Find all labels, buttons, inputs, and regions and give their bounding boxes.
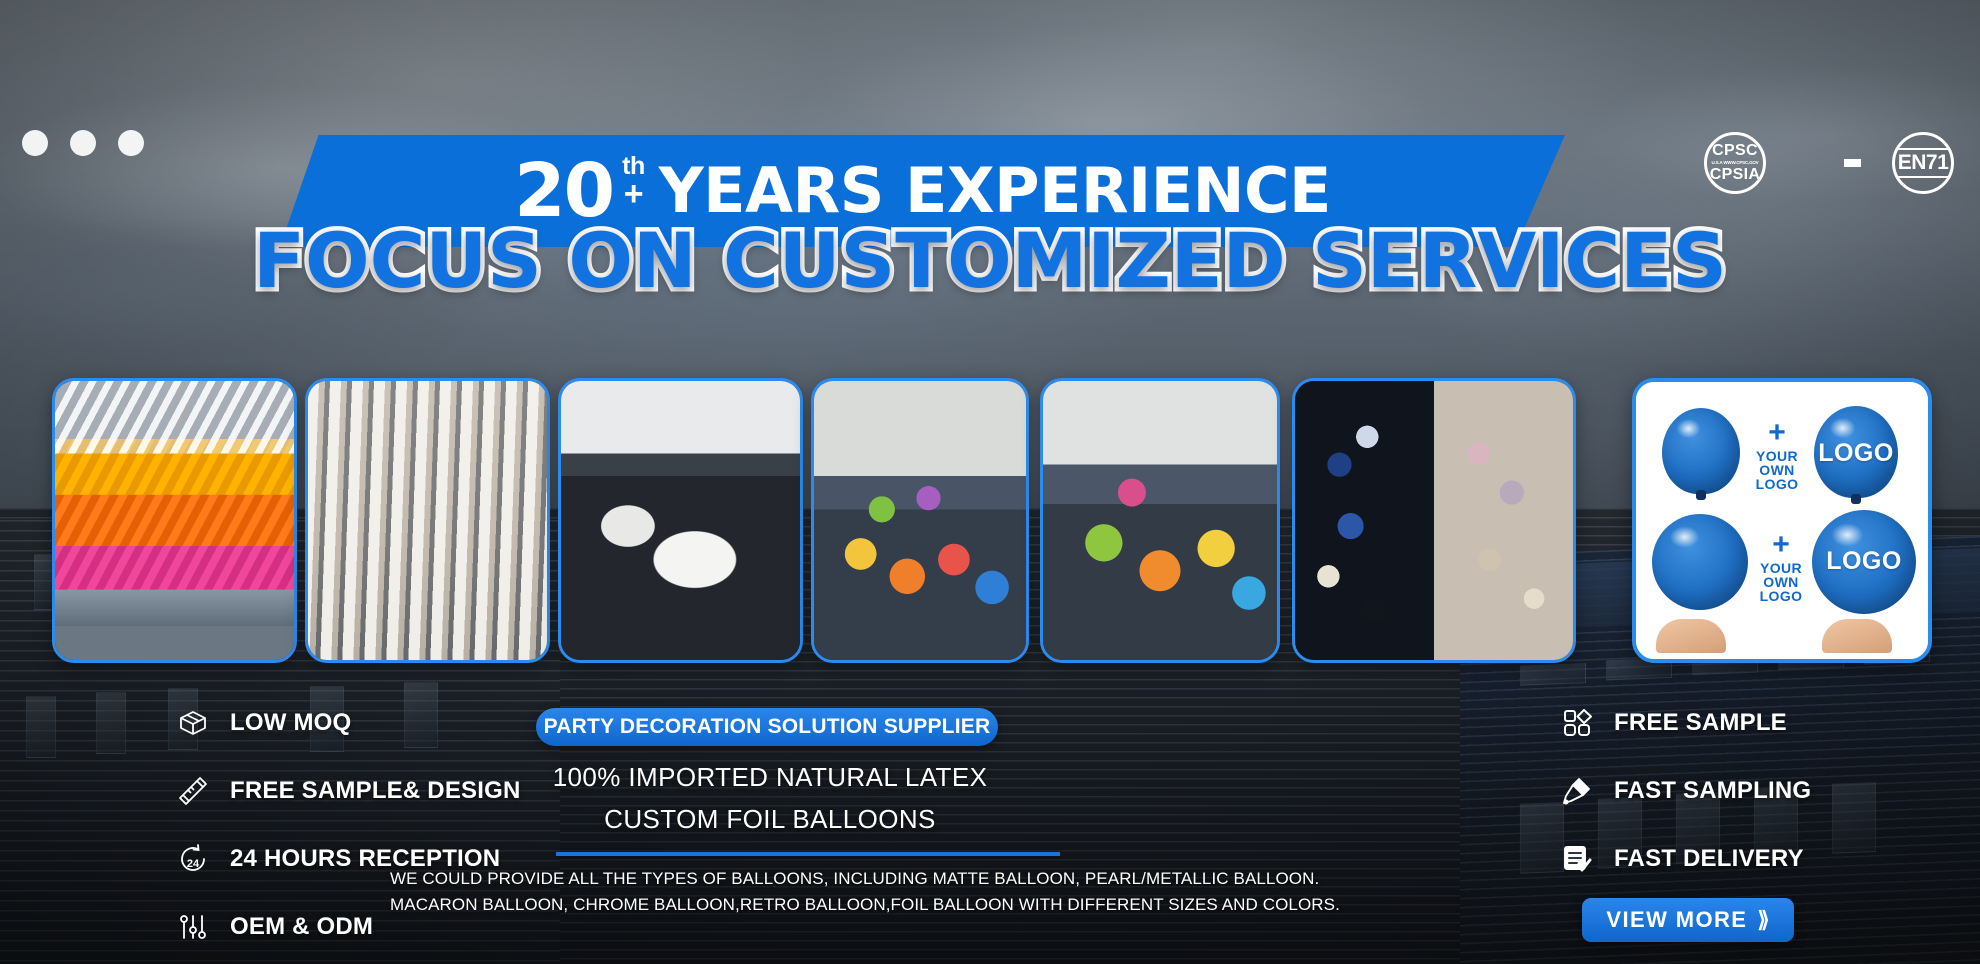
your-label-bottom: YOUR (1752, 561, 1810, 575)
hand-right (1822, 619, 1892, 653)
years-plus-sign: + (624, 179, 643, 210)
balloon-logo-text-bottom: LOGO (1812, 547, 1916, 576)
years-experience-label: YEARS EXPERIENCE (659, 160, 1331, 222)
logo-balloon-top: LOGO (1814, 406, 1898, 498)
dot-3 (118, 130, 144, 156)
dot-1 (22, 130, 48, 156)
plus-symbol-top: + (1748, 418, 1806, 449)
fine-print-block: WE COULD PROVIDE ALL THE TYPES OF BALLOO… (390, 866, 1230, 917)
center-divider (556, 852, 1060, 856)
cpsc-label: CPSC (1712, 143, 1758, 159)
tagline-natural-latex: 100% IMPORTED NATURAL LATEX (420, 762, 1120, 793)
solution-supplier-label: PARTY DECORATION SOLUTION SUPPLIER (544, 715, 991, 739)
dot-2 (70, 130, 96, 156)
your-own-logo-top: + YOUR OWN LOGO (1748, 418, 1806, 491)
center-tagline-block: 100% IMPORTED NATURAL LATEX CUSTOM FOIL … (420, 762, 1120, 846)
fine-print-line-1: WE COULD PROVIDE ALL THE TYPES OF BALLOO… (390, 866, 1230, 892)
feature-label: FAST SAMPLING (1614, 777, 1811, 805)
decorative-dots (22, 130, 144, 156)
photo-balloon-dipping-racks[interactable] (52, 378, 297, 663)
logo-label-bottom: LOGO (1752, 589, 1810, 603)
promo-banner: 20 th + YEARS EXPERIENCE CPSC U.S.A WWW.… (0, 0, 1980, 964)
view-more-button[interactable]: VIEW MORE ⟫ (1582, 898, 1794, 942)
balloon-logo-text-top: LOGO (1814, 439, 1898, 468)
document-check-icon (1560, 842, 1594, 876)
logo-label-top: LOGO (1748, 477, 1806, 491)
feature-low-moq[interactable]: LOW MOQ (176, 700, 521, 746)
own-label-bottom: OWN (1752, 575, 1810, 589)
logo-balloon-bottom: LOGO (1812, 510, 1916, 614)
product-photo-strip: + YOUR OWN LOGO LOGO + YOUR OWN (0, 378, 1980, 668)
feature-fast-sampling[interactable]: FAST SAMPLING (1560, 768, 1811, 814)
feature-label: LOW MOQ (230, 709, 351, 737)
feature-fast-delivery[interactable]: FAST DELIVERY (1560, 836, 1811, 882)
feature-label: FAST DELIVERY (1614, 845, 1804, 873)
solution-supplier-pill: PARTY DECORATION SOLUTION SUPPLIER (536, 708, 998, 746)
certification-badges: CPSC U.S.A WWW.CPSC.GOV CPSIA EN71 (1704, 132, 1954, 194)
box-icon (176, 706, 210, 740)
cpsc-cpsia-badge: CPSC U.S.A WWW.CPSC.GOV CPSIA (1704, 132, 1766, 194)
fine-print-line-2: MACARON BALLOON, CHROME BALLOON,RETRO BA… (390, 892, 1230, 918)
cpsia-label: CPSIA (1710, 167, 1760, 183)
photo-party-decoration-arches[interactable] (1292, 378, 1576, 663)
photo-conveyor-line-2[interactable] (1040, 378, 1280, 663)
clock-24-icon: 24 (176, 842, 210, 876)
your-own-logo-bottom: + YOUR OWN LOGO (1752, 530, 1810, 603)
en71-badge: EN71 (1892, 132, 1954, 194)
photo-conveyor-line-1[interactable] (811, 378, 1029, 663)
grid-shapes-icon (1560, 706, 1594, 740)
chevron-right-icon: ⟫ (1757, 907, 1769, 933)
svg-text:24: 24 (187, 858, 200, 870)
your-label-top: YOUR (1748, 449, 1806, 463)
en71-label: EN71 (1896, 148, 1951, 178)
ce-mark-icon (1792, 136, 1866, 190)
view-more-label: VIEW MORE (1606, 907, 1747, 933)
feature-free-sample[interactable]: FREE SAMPLE (1560, 700, 1811, 746)
plain-balloon-top (1662, 408, 1740, 494)
own-label-top: OWN (1748, 463, 1806, 477)
page-title: FOCUS ON CUSTOMIZED SERVICES (0, 216, 1980, 305)
feature-label: FREE SAMPLE (1614, 709, 1787, 737)
cpsc-url: U.S.A WWW.CPSC.GOV (1712, 161, 1759, 166)
years-superscript: th + (622, 155, 645, 210)
photo-printing-machine[interactable] (558, 378, 803, 663)
plain-balloon-bottom (1652, 514, 1748, 610)
hand-left (1656, 619, 1726, 653)
pencil-ruler-icon (176, 774, 210, 808)
custom-logo-balloon-panel[interactable]: + YOUR OWN LOGO LOGO + YOUR OWN (1632, 378, 1932, 663)
feature-label: OEM & ODM (230, 913, 373, 941)
photo-natural-latex-rows[interactable] (305, 378, 550, 663)
features-right-list: FREE SAMPLE FAST SAMPLING FAST DELIV (1560, 700, 1811, 904)
dropper-icon (1560, 774, 1594, 808)
plus-symbol-bottom: + (1752, 530, 1810, 561)
tagline-foil-balloons: CUSTOM FOIL BALLOONS (420, 804, 1120, 835)
sliders-icon (176, 910, 210, 944)
